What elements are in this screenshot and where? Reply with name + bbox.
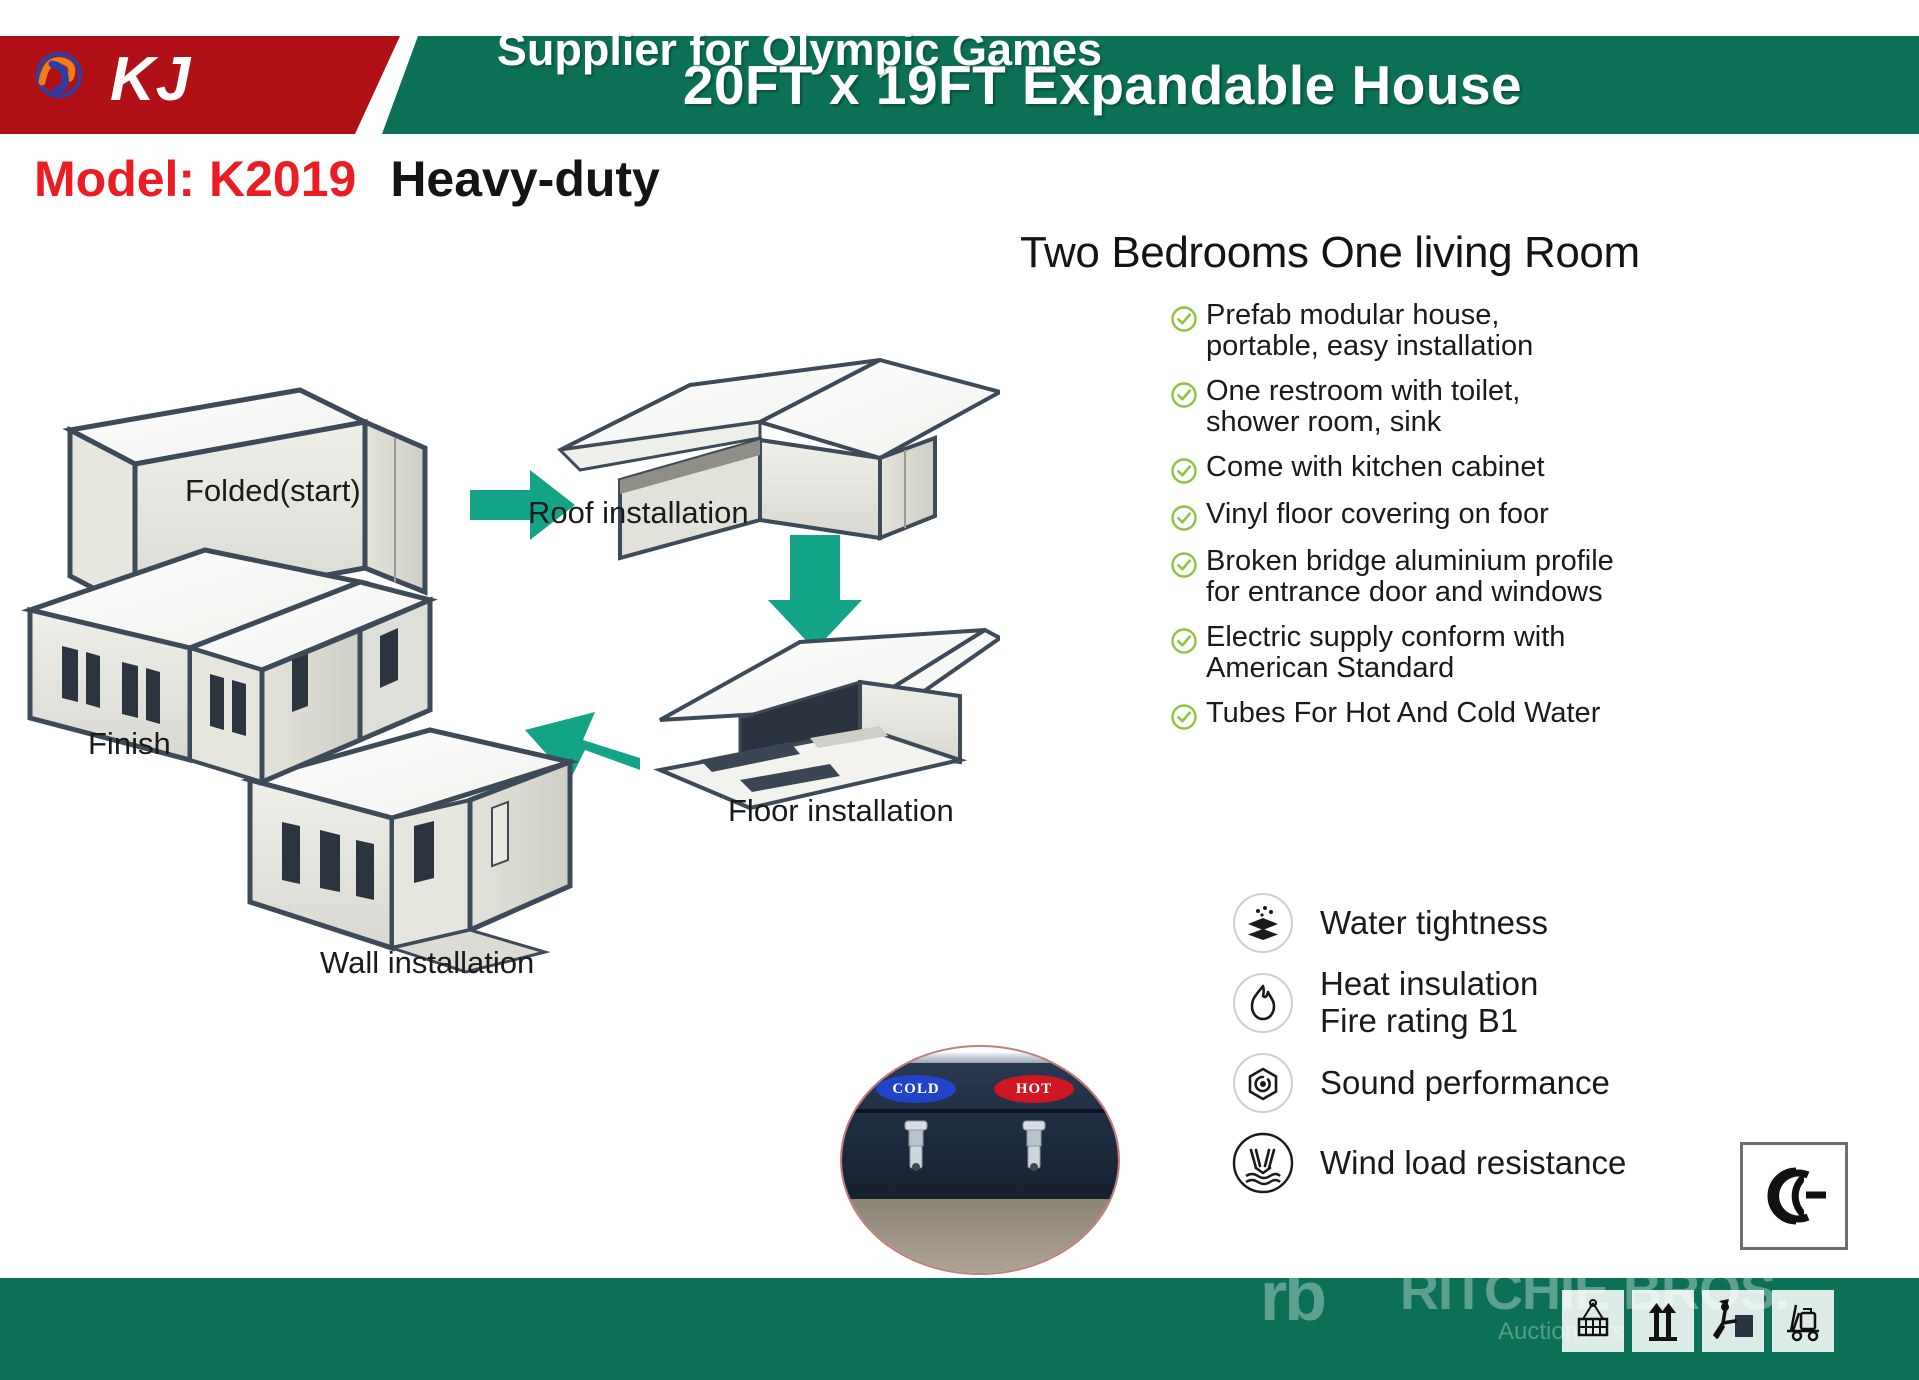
list-item: Come with kitchen cabinet bbox=[1170, 452, 1740, 485]
green-check-circle-icon bbox=[1170, 504, 1198, 532]
step-label-finish: Finish bbox=[88, 726, 171, 762]
feature-text: Come with kitchen cabinet bbox=[1206, 452, 1545, 483]
duty-label: Heavy-duty bbox=[390, 150, 660, 208]
photo-ground bbox=[840, 1199, 1120, 1275]
property-label: Wind load resistance bbox=[1320, 1145, 1626, 1182]
feature-list: Prefab modular house, portable, easy ins… bbox=[1170, 300, 1740, 731]
list-item: Sound performance bbox=[1232, 1045, 1626, 1121]
property-label: Sound performance bbox=[1320, 1065, 1610, 1102]
model-line: Model: K2019 Heavy-duty bbox=[34, 150, 660, 208]
list-item: Water tightness bbox=[1232, 885, 1626, 961]
step-label-folded: Folded(start) bbox=[185, 473, 361, 509]
green-check-circle-icon bbox=[1170, 381, 1198, 409]
list-item: Tubes For Hot And Cold Water bbox=[1170, 698, 1740, 731]
list-item: Wind load resistance bbox=[1232, 1125, 1626, 1201]
photo-panel bbox=[840, 1059, 1120, 1199]
green-check-circle-icon bbox=[1170, 551, 1198, 579]
do-not-lean-icon bbox=[1702, 1290, 1764, 1352]
ce-mark-icon bbox=[1740, 1142, 1848, 1250]
feature-text: One restroom with toilet, shower room, s… bbox=[1206, 376, 1520, 438]
photo-seam-line bbox=[840, 1109, 1120, 1113]
photo-top-edge bbox=[840, 1053, 1120, 1063]
arrow-down-1 bbox=[768, 535, 862, 650]
green-check-circle-icon bbox=[1170, 457, 1198, 485]
this-side-up-icon bbox=[1632, 1290, 1694, 1352]
sling-here-icon bbox=[1562, 1290, 1624, 1352]
feature-text: Broken bridge aluminium profile for entr… bbox=[1206, 546, 1614, 608]
water-droplet-layers-icon bbox=[1232, 892, 1294, 954]
poster-canvas: 20FT x 19FT Expandable House KJ Model: K… bbox=[0, 0, 1919, 1380]
list-item: Prefab modular house, portable, easy ins… bbox=[1170, 300, 1740, 362]
rooms-heading: Two Bedrooms One living Room bbox=[1020, 228, 1740, 278]
green-check-circle-icon bbox=[1170, 703, 1198, 731]
cold-valve-icon bbox=[903, 1119, 929, 1177]
flame-icon bbox=[1232, 972, 1294, 1034]
step-label-roof: Roof installation bbox=[528, 495, 749, 531]
footer-title: Supplier for Olympic Games bbox=[0, 24, 1759, 76]
list-item: One restroom with toilet, shower room, s… bbox=[1170, 376, 1740, 438]
feature-text: Tubes For Hot And Cold Water bbox=[1206, 698, 1600, 729]
features-column: Two Bedrooms One living Room Prefab modu… bbox=[1000, 228, 1740, 745]
hot-valve-icon bbox=[1021, 1119, 1047, 1177]
property-list: Water tightness Heat insulation Fire rat… bbox=[1232, 885, 1626, 1205]
step-label-floor: Floor installation bbox=[728, 793, 954, 829]
list-item: Electric supply conform with American St… bbox=[1170, 622, 1740, 684]
model-label: Model: K2019 bbox=[34, 150, 356, 208]
feature-text: Electric supply conform with American St… bbox=[1206, 622, 1565, 684]
feature-text: Vinyl floor covering on foor bbox=[1206, 499, 1549, 530]
step-label-wall: Wall installation bbox=[320, 945, 534, 981]
list-item: Broken bridge aluminium profile for entr… bbox=[1170, 546, 1740, 608]
cold-tag: COLD bbox=[876, 1075, 956, 1103]
feature-text: Prefab modular house, portable, easy ins… bbox=[1206, 300, 1533, 362]
handling-icon-row bbox=[1562, 1290, 1834, 1352]
property-label: Water tightness bbox=[1320, 905, 1548, 942]
list-item: Heat insulation Fire rating B1 bbox=[1232, 965, 1626, 1041]
wind-wave-icon bbox=[1232, 1132, 1294, 1194]
green-check-circle-icon bbox=[1170, 305, 1198, 333]
green-check-circle-icon bbox=[1170, 627, 1198, 655]
property-label: Heat insulation Fire rating B1 bbox=[1320, 966, 1538, 1040]
forklift-icon bbox=[1772, 1290, 1834, 1352]
hot-cold-tubes-photo: COLD HOT bbox=[840, 1045, 1120, 1275]
step-floor-illustration bbox=[660, 630, 1000, 808]
hot-tag: HOT bbox=[994, 1075, 1074, 1103]
sound-hexagon-icon bbox=[1232, 1052, 1294, 1114]
list-item: Vinyl floor covering on foor bbox=[1170, 499, 1740, 532]
